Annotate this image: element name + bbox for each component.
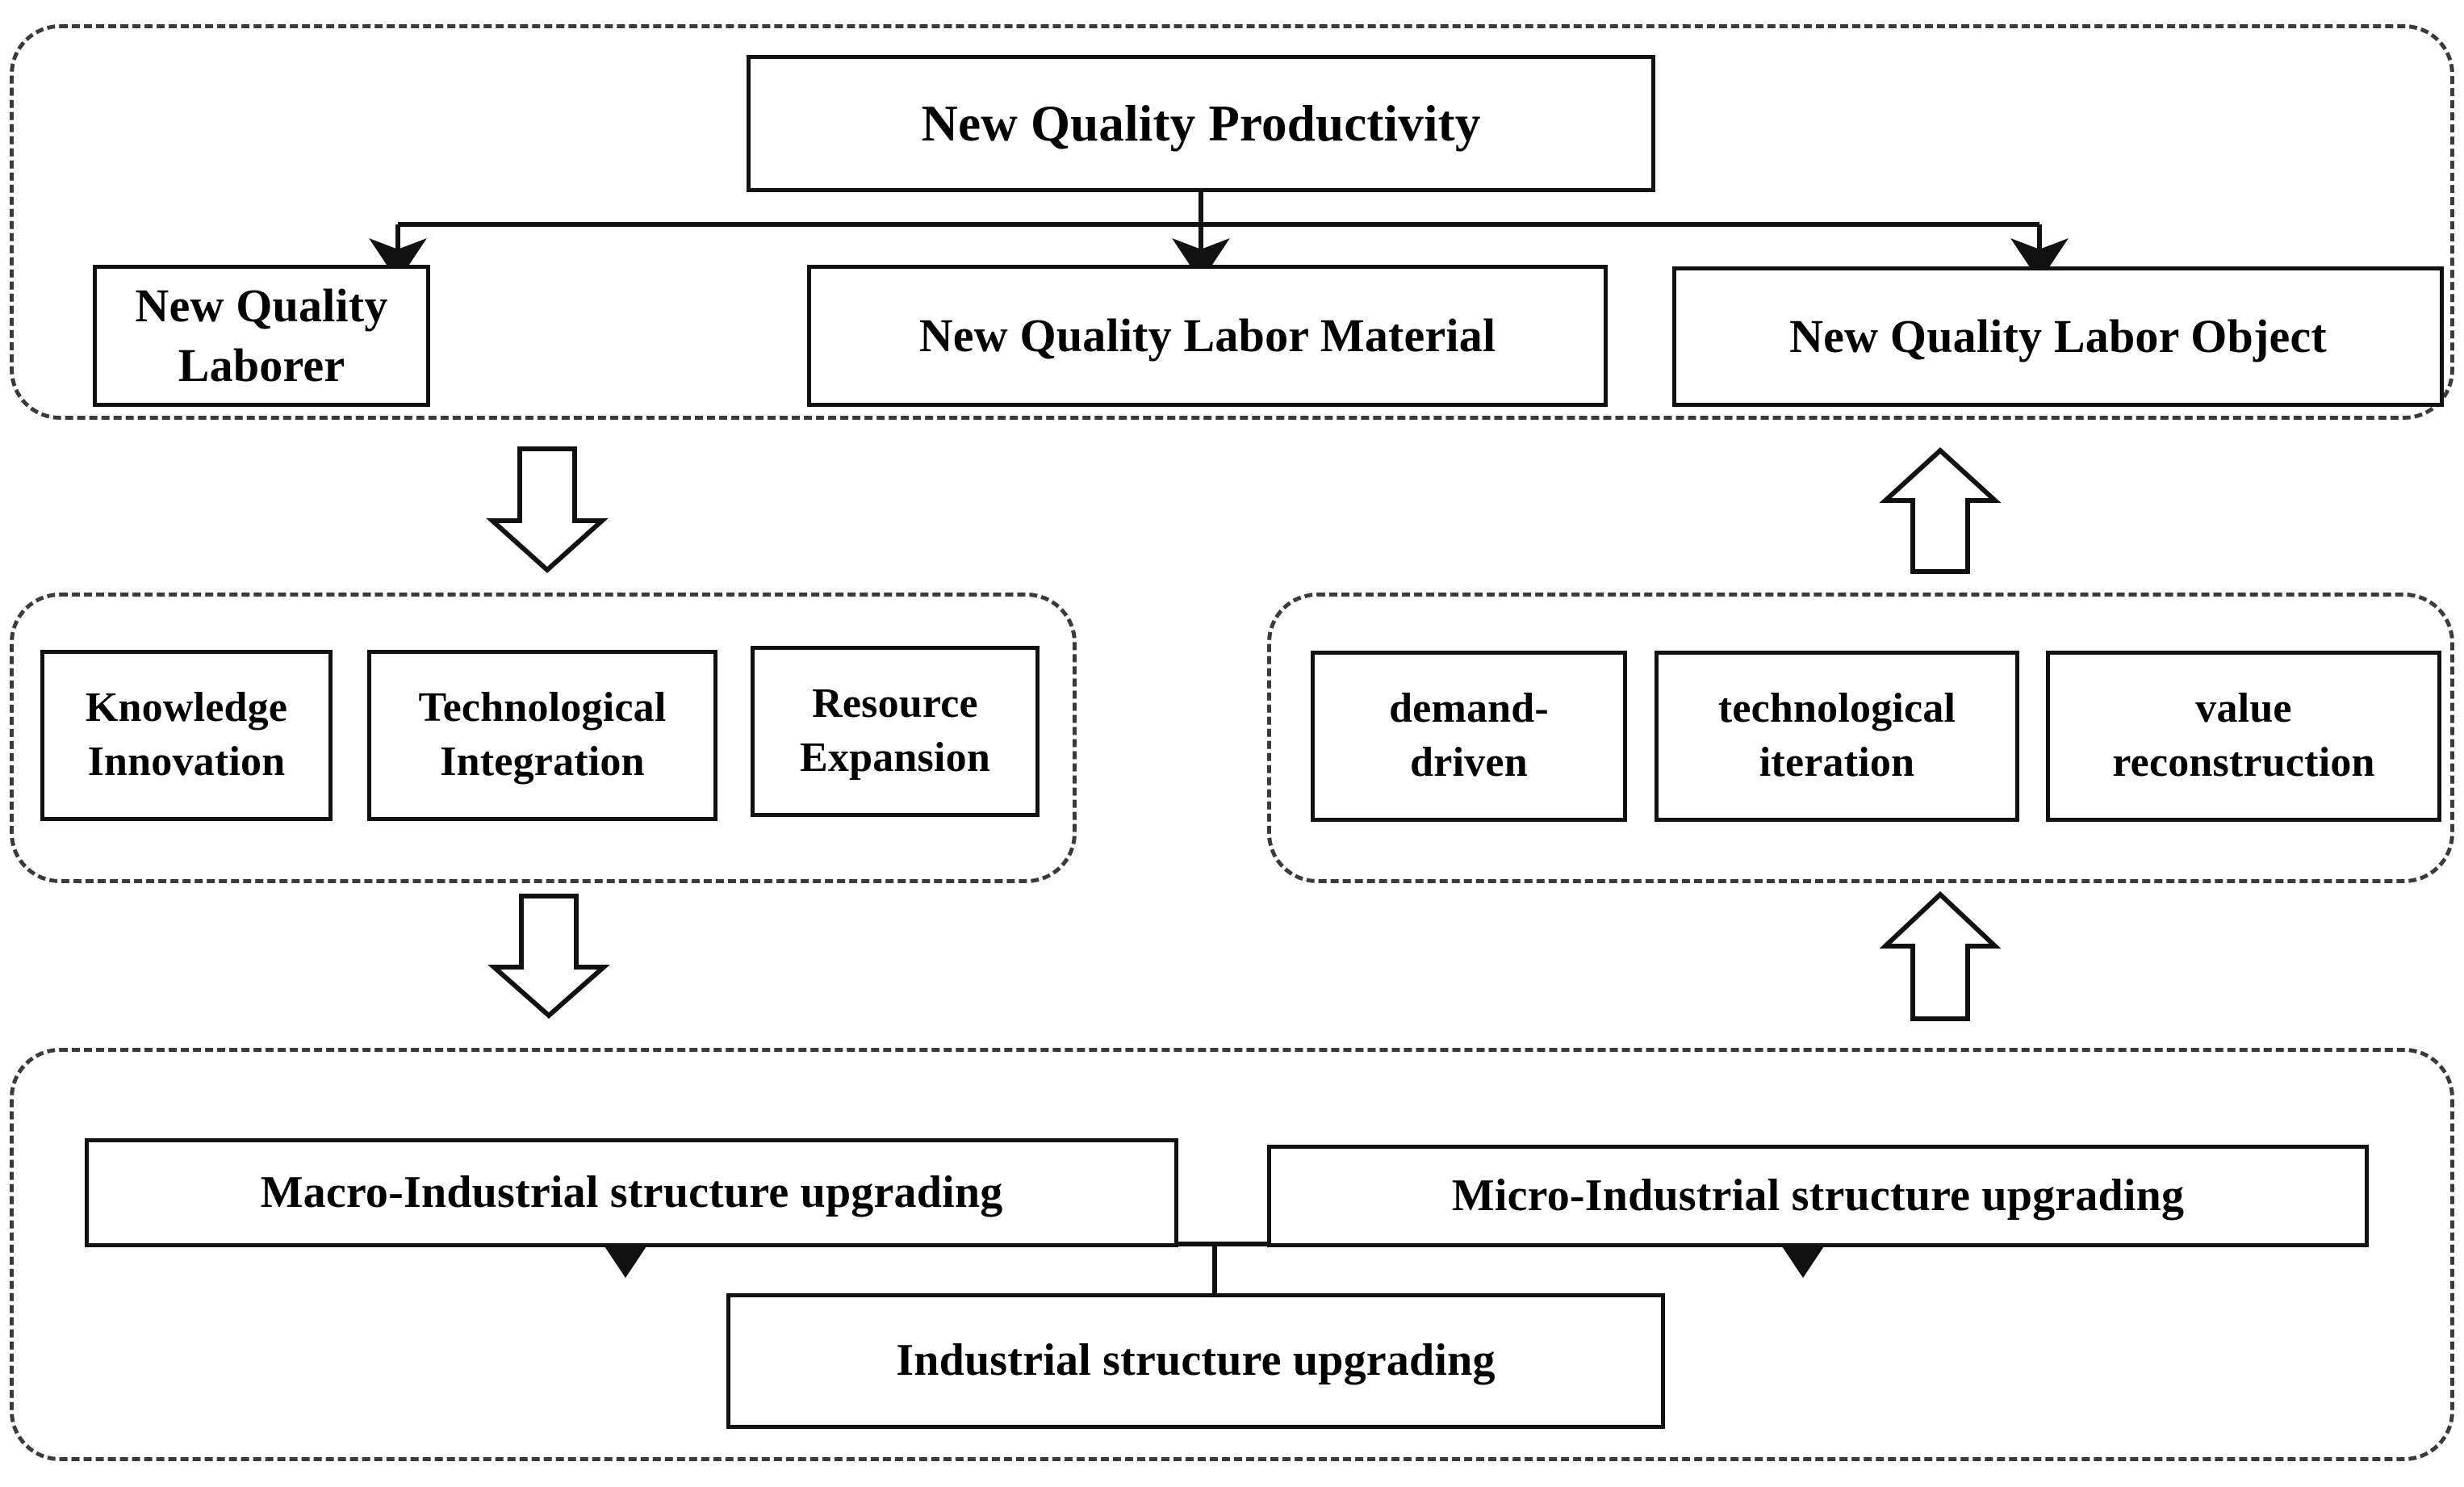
node-label: Knowledge Innovation [76,681,297,789]
node-label: New Quality Laborer [97,276,426,396]
node-label: Micro-Industrial structure upgrading [1442,1167,2194,1225]
node-label: Macro-Industrial structure upgrading [251,1164,1013,1222]
node-resource-expansion[interactable]: Resource Expansion [751,646,1040,817]
node-label: demand- driven [1379,682,1558,790]
block-arrow-up-micro [1885,894,1995,1019]
node-micro-industrial-structure-upgrading[interactable]: Micro-Industrial structure upgrading [1267,1145,2369,1247]
block-arrow-up-right-group [1885,450,1995,572]
node-label: Resource Expansion [790,677,1000,785]
node-label: value reconstruction [2102,682,2384,790]
node-new-quality-laborer[interactable]: New Quality Laborer [93,265,430,407]
node-label: New Quality Labor Material [910,306,1506,366]
node-macro-industrial-structure-upgrading[interactable]: Macro-Industrial structure upgrading [85,1138,1178,1247]
node-label: Industrial structure upgrading [886,1332,1504,1390]
node-new-quality-labor-object[interactable]: New Quality Labor Object [1672,266,2444,407]
node-demand-driven[interactable]: demand- driven [1311,651,1627,822]
diagram-root: New Quality Productivity New Quality Lab… [0,0,2464,1487]
node-industrial-structure-upgrading[interactable]: Industrial structure upgrading [726,1293,1665,1429]
node-value-reconstruction[interactable]: value reconstruction [2046,651,2441,822]
node-technological-integration[interactable]: Technological Integration [367,650,717,821]
node-new-quality-productivity[interactable]: New Quality Productivity [747,55,1655,192]
node-technological-iteration[interactable]: technological iteration [1655,651,2019,822]
node-label: technological iteration [1709,682,1965,790]
node-label: New Quality Labor Object [1780,307,2336,367]
node-label: Technological Integration [409,681,676,789]
node-new-quality-labor-material[interactable]: New Quality Labor Material [807,265,1608,407]
block-arrow-down-left-group [494,896,604,1016]
node-label: New Quality Productivity [911,91,1490,157]
node-knowledge-innovation[interactable]: Knowledge Innovation [40,650,333,821]
block-arrow-down-laborer [492,449,602,570]
